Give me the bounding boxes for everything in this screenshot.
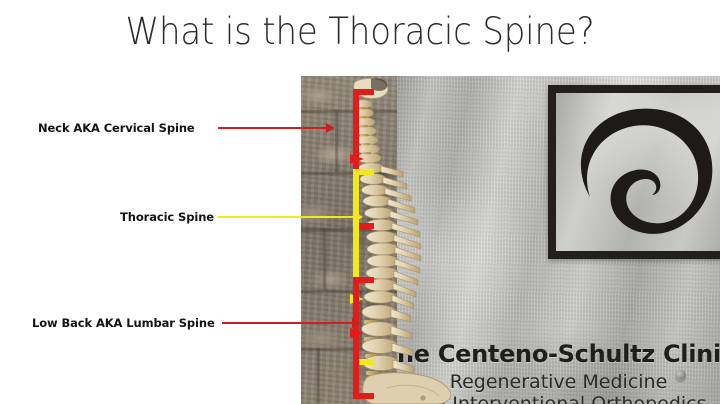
slide-canvas: What is the Thoracic Spine? [0,0,720,404]
callout-arrow-head-lumbar [352,318,361,328]
logo-frame [548,85,720,259]
page-title: What is the Thoracic Spine? [29,8,691,56]
callout-arrow-line-thoracic [218,216,356,218]
callout-arrow-head-cervical [326,123,335,133]
callout-arrow-line-cervical [218,127,328,129]
lumbar-bracket-red [348,276,374,404]
callout-label-lumbar: Low Back AKA Lumbar Spine [32,316,215,330]
spiral-nautilus-logo-icon [556,93,720,251]
callout-arrow-line-lumbar [222,322,354,324]
callout-arrow-head-thoracic [354,212,363,222]
spine-photo: ne Centeno-Schultz Clinic Regenerative M… [301,76,720,404]
callout-label-cervical: Neck AKA Cervical Spine [38,121,195,135]
callout-label-thoracic: Thoracic Spine [120,210,214,224]
